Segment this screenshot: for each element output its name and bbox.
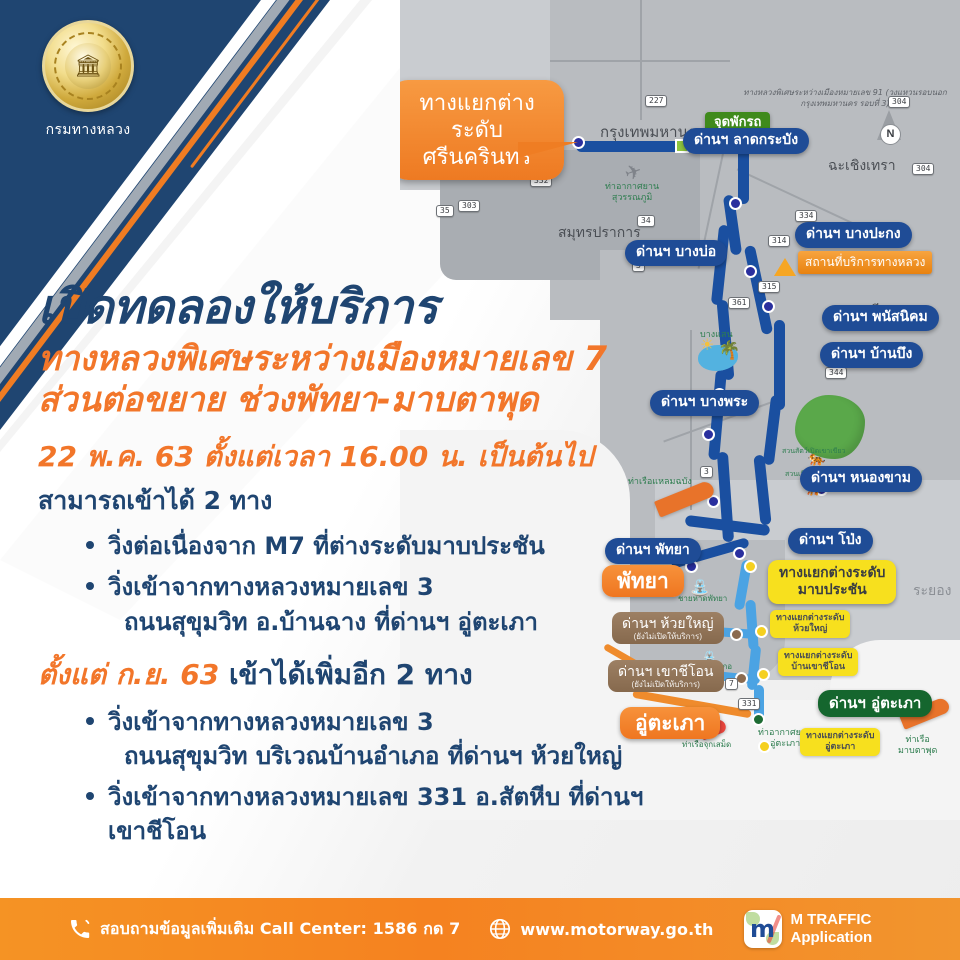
m-traffic-app-icon: m <box>744 910 782 948</box>
shield-3b: 3 <box>700 466 713 478</box>
map-note-highway-91: ทางหลวงพิเศษระหว่างเมืองหมายเลข 91 (วงแห… <box>730 88 960 110</box>
shield-314: 314 <box>768 235 790 247</box>
infographic-poster: 🏛 กรมทางหลวง <box>0 0 960 960</box>
callout-lat-krabang-toll[interactable]: ด่านฯ ลาดกระบัง <box>683 128 809 154</box>
interchange-node-map-prachan <box>744 560 757 573</box>
phase2-heading-rest: เข้าได้เพิ่มอีก 2 ทาง <box>229 658 473 691</box>
place-label-suvarnabhumi: ท่าอากาศยาน สุวรรณภูมิ <box>605 182 659 205</box>
province-label-chachoengsao: ฉะเชิงเทรา <box>828 155 896 177</box>
compass-rose-icon: N <box>877 110 903 140</box>
interchange-node-huai-yai <box>730 628 743 641</box>
palm-tree-icon: 🌴 <box>718 340 740 361</box>
phase1-bullet-list: วิ่งต่อเนื่องจาก M7 ที่ต่างระดับมาบประชั… <box>38 529 678 638</box>
callout-highway-service-area[interactable]: สถานที่บริการทางหลวง <box>798 251 932 274</box>
headline-main: เปิดทดลองให้บริการ <box>38 283 678 333</box>
globe-icon <box>488 917 512 941</box>
callout-ban-bueng-toll[interactable]: ด่านฯ บ้านบึง <box>820 342 923 368</box>
place-label-juk-samet-port: ท่าเรือจุกเสม็ด <box>682 740 731 750</box>
access-count-line: สามารถเข้าได้ 2 ทาง <box>38 481 678 521</box>
list-item: วิ่งต่อเนื่องจาก M7 ที่ต่างระดับมาบประชั… <box>108 529 678 563</box>
bullet-continuation: ถนนสุขุมวิท บริเวณบ้านอำเภอ ที่ด่านฯ ห้ว… <box>108 739 678 773</box>
seal-emblem-icon: 🏛 <box>65 43 111 89</box>
shield-365: 334 <box>795 210 817 222</box>
callout-tail <box>518 142 578 158</box>
list-item: วิ่งเข้าจากทางหลวงหมายเลข 331 อ.สัตหีบ ท… <box>108 780 678 848</box>
bullet-text: วิ่งเข้าจากทางหลวงหมายเลข 3 <box>108 708 434 736</box>
interchange-node-u-tapao <box>752 713 765 726</box>
callout-nong-kham-toll[interactable]: ด่านฯ หนองขาม <box>800 466 922 492</box>
province-label-rayong: ระยอง <box>913 580 952 602</box>
m-traffic-app-text: M TRAFFIC Application <box>791 911 873 946</box>
department-of-highways-seal-icon: 🏛 <box>42 20 134 112</box>
callout-bang-pakong-toll[interactable]: ด่านฯ บางปะกง <box>795 222 912 248</box>
compass-north-label: N <box>880 124 901 145</box>
callout-pong-toll[interactable]: ด่านฯ โป่ง <box>788 528 873 554</box>
agency-name: กรมทางหลวง <box>28 119 148 141</box>
shield-332: 7 <box>725 678 738 690</box>
callout-u-tapao-interchange[interactable]: ทางแยกต่างระดับ อู่ตะเภา <box>800 728 880 756</box>
website-url: www.motorway.go.th <box>520 920 713 939</box>
phase2-heading: ตั้งแต่ ก.ย. 63 เข้าได้เพิ่มอีก 2 ทาง <box>38 653 678 697</box>
place-label-map-ta-phut-port: ท่าเรือ มาบตาพุด <box>898 735 937 758</box>
call-center-item[interactable]: สอบถามข้อมูลเพิ่มเติม Call Center: 1586 … <box>68 917 460 942</box>
shield-35: 35 <box>436 205 454 217</box>
callout-si-nakharin-interchange[interactable]: ทางแยกต่างระดับ ศรีนครินทร์ <box>400 80 564 180</box>
shield-331: 331 <box>738 698 760 710</box>
bullet-text: วิ่งเข้าจากทางหลวงหมายเลข 3 <box>108 573 434 601</box>
shield-315: 315 <box>758 281 780 293</box>
list-item: วิ่งเข้าจากทางหลวงหมายเลข 3 ถนนสุขุมวิท … <box>108 705 678 773</box>
callout-huai-yai-interchange[interactable]: ทางแยกต่างระดับ ห้วยใหญ่ <box>770 610 850 638</box>
footer-bar: สอบถามข้อมูลเพิ่มเติม Call Center: 1586 … <box>0 898 960 960</box>
m-traffic-app-item[interactable]: m M TRAFFIC Application <box>744 910 873 948</box>
headline-route-name: ทางหลวงพิเศษระหว่างเมืองหมายเลข 7 <box>38 339 678 380</box>
place-label-khao-kheow-zoo: สวนสัตว์เปิดเขาเขียว <box>782 447 845 456</box>
shield-303: 303 <box>458 200 480 212</box>
shield-304b: 304 <box>912 163 934 175</box>
bullet-continuation: ถนนสุขุมวิท อ.บ้านฉาง ที่ด่านฯ อู่ตะเภา <box>108 605 678 639</box>
callout-u-tapao-toll[interactable]: ด่านฯ อู่ตะเภา <box>818 690 932 717</box>
phase2-block: ตั้งแต่ ก.ย. 63 เข้าได้เพิ่มอีก 2 ทาง วิ… <box>38 653 678 848</box>
headline-route-section: ส่วนต่อขยาย ช่วงพัทยา-มาบตาพุด <box>38 380 678 421</box>
interchange-node <box>762 300 775 313</box>
place-label-bangsaen: บางแสน <box>700 330 733 341</box>
headline-block: เปิดทดลองให้บริการ ทางหลวงพิเศษระหว่างเม… <box>38 283 678 855</box>
agency-logo: 🏛 กรมทางหลวง <box>28 20 148 141</box>
interchange-node <box>702 428 715 441</box>
bullet-text: วิ่งเข้าจากทางหลวงหมายเลข 331 อ.สัตหีบ ท… <box>108 783 643 845</box>
phase2-bullet-list: วิ่งเข้าจากทางหลวงหมายเลข 3 ถนนสุขุมวิท … <box>38 705 678 848</box>
app-line-1: M TRAFFIC <box>791 911 873 929</box>
secondary-road <box>550 60 730 62</box>
bullet-text: วิ่งต่อเนื่องจาก M7 ที่ต่างระดับมาบประชั… <box>108 532 545 560</box>
shield-344: 344 <box>825 367 847 379</box>
phone-icon <box>68 917 92 941</box>
interchange-node-khao-chi-on-yellow <box>757 668 770 681</box>
province-label-samutprakan: สมุทรปราการ <box>558 222 641 244</box>
call-center-text: สอบถามข้อมูลเพิ่มเติม Call Center: 1586 … <box>100 917 460 942</box>
place-label-pattaya-beach: ชายหาดพัทยา <box>678 594 727 604</box>
callout-phanat-nikhom-toll[interactable]: ด่านฯ พนัสนิคม <box>822 305 939 331</box>
website-item[interactable]: www.motorway.go.th <box>488 917 713 941</box>
app-line-2: Application <box>791 929 873 947</box>
phase2-heading-date: ตั้งแต่ ก.ย. 63 <box>38 658 219 691</box>
callout-bang-bo-toll[interactable]: ด่านฯ บางบ่อ <box>625 240 727 266</box>
callout-ban-khao-chi-on-interchange[interactable]: ทางแยกต่างระดับ บ้านเขาชีโอน <box>778 648 858 676</box>
callout-map-prachan-interchange[interactable]: ทางแยกต่างระดับ มาบประชัน <box>768 560 896 604</box>
interchange-node <box>733 547 746 560</box>
shield-361: 361 <box>728 297 750 309</box>
service-area-marker-icon <box>774 258 796 276</box>
interchange-node <box>744 265 757 278</box>
shield-227: 227 <box>645 95 667 107</box>
interchange-node-huai-yai-yellow <box>755 625 768 638</box>
list-item: วิ่งเข้าจากทางหลวงหมายเลข 3 ถนนสุขุมวิท … <box>108 570 678 638</box>
opening-date-line: 22 พ.ค. 63 ตั้งแต่เวลา 16.00 น. เป็นต้นไ… <box>38 435 678 479</box>
interchange-node <box>729 197 742 210</box>
